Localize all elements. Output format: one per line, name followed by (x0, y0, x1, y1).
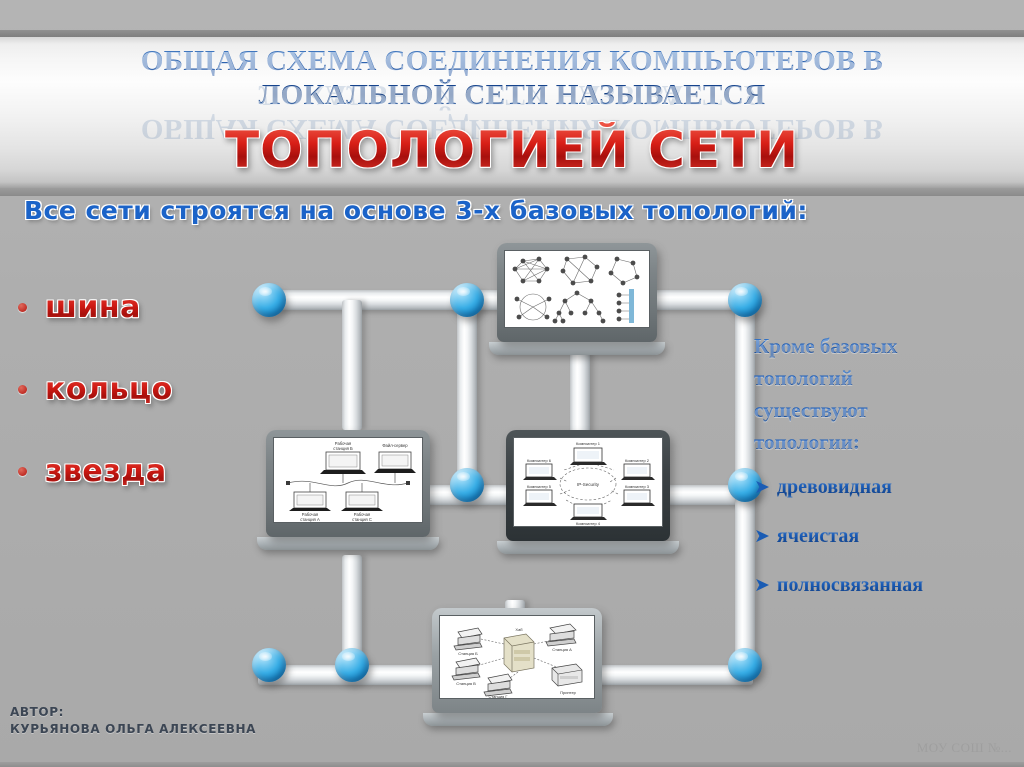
svg-text:станция Б: станция Б (333, 446, 353, 451)
network-node (728, 283, 762, 317)
extra-topologies-intro-line: топологий (754, 362, 1022, 394)
network-node (252, 283, 286, 317)
network-node (728, 648, 762, 682)
bullet-dot-icon (18, 303, 27, 312)
ring-topology-diagram: IP-Security (514, 438, 662, 526)
bullet-dot-icon (18, 467, 27, 476)
svg-text:Компьютер 1: Компьютер 1 (576, 441, 601, 446)
svg-text:Компьютер 3: Компьютер 3 (625, 484, 650, 489)
slide-root: ОБЩАЯ СХЕМА СОЕДИНЕНИЯ КОМПЬЮТЕРОВ В ЛОК… (0, 0, 1024, 767)
svg-text:Хаб: Хаб (515, 627, 523, 632)
extra-topologies-intro-line: топологии: (754, 426, 1022, 458)
star-topology-diagram: Хаб Станция Б Станция А Станция В Станци… (440, 616, 594, 698)
network-node (335, 648, 369, 682)
laptop-lid (497, 243, 657, 342)
laptop-ring-topology: IP-Security (506, 430, 679, 554)
list-item: кольцо (18, 372, 248, 407)
topology-overview-diagram (505, 251, 649, 327)
footer-divider (0, 762, 1024, 767)
arrow-right-icon: ➤ (754, 574, 770, 596)
base-topology-list: шина кольцо звезда (18, 290, 248, 536)
list-item: ➤ древовидная (754, 476, 1022, 499)
extra-topology-label: полносвязанная (777, 574, 923, 597)
svg-text:Станция Г: Станция Г (488, 694, 508, 698)
band-top-edge (0, 30, 1024, 37)
author-credit: АВТОР: КУРЬЯНОВА ОЛЬГА АЛЕКСЕЕВНА (10, 704, 256, 738)
svg-text:Компьютер 6: Компьютер 6 (527, 458, 552, 463)
svg-text:Станция А: Станция А (552, 647, 572, 652)
svg-text:IP-Security: IP-Security (577, 482, 600, 487)
laptop-base (489, 342, 665, 355)
laptop-star-topology: Хаб Станция Б Станция А Станция В Станци… (432, 608, 613, 726)
laptop-screen: IP-Security (513, 437, 663, 527)
list-item: ➤ ячеистая (754, 525, 1022, 548)
extra-topologies-panel: Кроме базовых топологий существуют топол… (754, 330, 1022, 623)
extra-topologies-intro-line: существуют (754, 394, 1022, 426)
svg-text:Станция В: Станция В (456, 681, 476, 686)
svg-text:Компьютер 5: Компьютер 5 (527, 484, 552, 489)
svg-text:Станция Б: Станция Б (458, 651, 478, 656)
laptop-screen: Хаб Станция Б Станция А Станция В Станци… (439, 615, 595, 699)
arrow-right-icon: ➤ (754, 476, 770, 498)
watermark-text: МОУ СОШ №... (917, 740, 1012, 756)
base-topology-label: звезда (45, 454, 167, 489)
subtitle-text: Все сети строятся на основе 3-х базовых … (24, 196, 1000, 225)
laptop-base (257, 537, 439, 550)
network-node (450, 468, 484, 502)
network-node (252, 648, 286, 682)
extra-topologies-list: ➤ древовидная ➤ ячеистая ➤ полносвязанна… (754, 476, 1022, 597)
laptop-screen: Рабочаястанция Б Файл-сервер Рабочаястан… (273, 437, 423, 523)
svg-text:Компьютер 4: Компьютер 4 (576, 521, 601, 526)
bullet-dot-icon (18, 385, 27, 394)
svg-text:Файл-сервер: Файл-сервер (382, 443, 408, 448)
laptop-bus-topology: Рабочаястанция Б Файл-сервер Рабочаястан… (266, 430, 439, 550)
svg-text:Компьютер 2: Компьютер 2 (625, 458, 650, 463)
headline-topology: ТОПОЛОГИЕЙ СЕТИ (0, 122, 1024, 178)
svg-text:станция А: станция А (300, 517, 320, 522)
svg-text:Принтер: Принтер (560, 690, 577, 695)
extra-topologies-intro-line: Кроме базовых (754, 330, 1022, 362)
laptop-base (423, 713, 613, 726)
pipe-vertical-to-bus-laptop (342, 300, 362, 430)
extra-topology-label: ячеистая (777, 525, 859, 548)
band-bottom-edge (0, 188, 1024, 196)
laptop-lid: Рабочаястанция Б Файл-сервер Рабочаястан… (266, 430, 430, 537)
list-item: звезда (18, 454, 248, 489)
laptop-base (497, 541, 679, 554)
base-topology-label: кольцо (45, 372, 173, 407)
network-node (450, 283, 484, 317)
laptop-screen (504, 250, 650, 328)
laptop-lid: IP-Security (506, 430, 670, 541)
laptop-lid: Хаб Станция Б Станция А Станция В Станци… (432, 608, 602, 713)
extra-topology-label: древовидная (777, 476, 892, 499)
svg-text:станция С: станция С (352, 517, 372, 522)
list-item: шина (18, 290, 248, 325)
laptop-topology-overview (497, 243, 665, 355)
base-topology-label: шина (45, 290, 141, 325)
arrow-right-icon: ➤ (754, 525, 770, 547)
bus-topology-diagram: Рабочаястанция Б Файл-сервер Рабочаястан… (274, 438, 422, 522)
list-item: ➤ полносвязанная (754, 574, 1022, 597)
page-title: ОБЩАЯ СХЕМА СОЕДИНЕНИЯ КОМПЬЮТЕРОВ В ЛОК… (0, 44, 1024, 112)
